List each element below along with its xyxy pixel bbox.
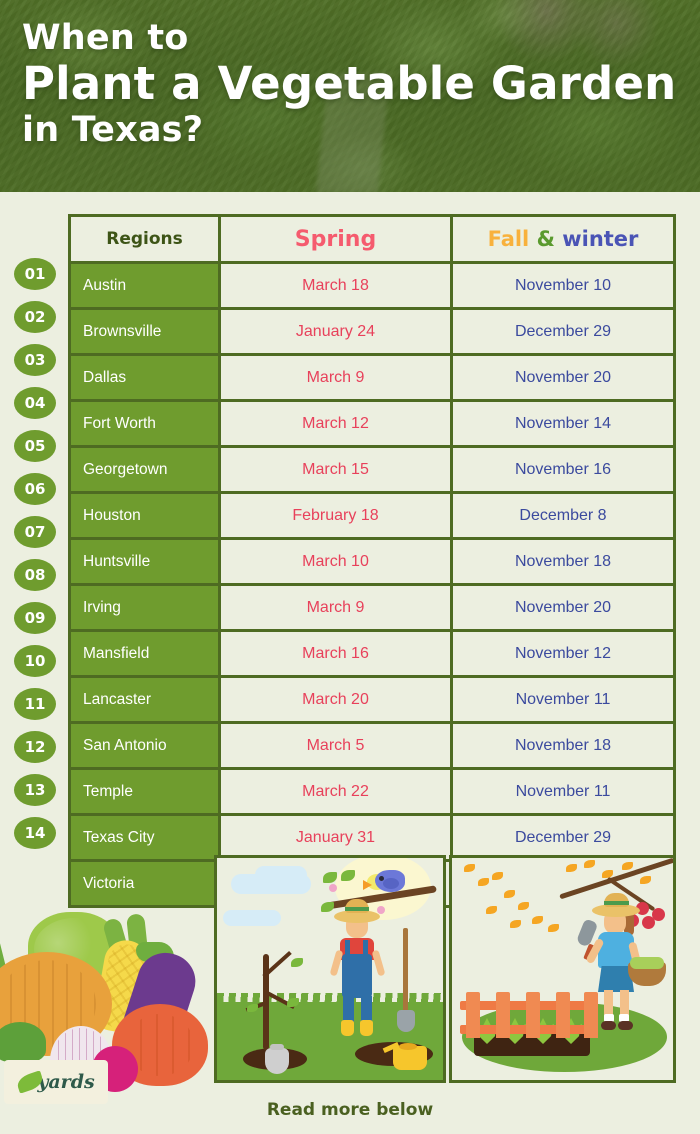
row-number-badge: 03 <box>14 344 56 376</box>
cell-region: San Antonio <box>71 724 221 767</box>
berry-icon <box>642 916 655 929</box>
overalls <box>342 954 372 998</box>
cell-fall-date: November 12 <box>453 632 673 675</box>
cloud-icon <box>223 910 281 926</box>
row-number-badge: 14 <box>14 817 56 849</box>
row-number-badge: 05 <box>14 430 56 462</box>
autumn-leaf-icon <box>566 864 577 872</box>
row-number-badge: 12 <box>14 731 56 763</box>
bird-eye <box>379 876 384 881</box>
cell-region: Texas City <box>71 816 221 859</box>
falling-leaf-icon <box>548 924 559 932</box>
cell-spring-date: March 10 <box>221 540 453 583</box>
fence-post <box>556 992 570 1038</box>
cell-spring-date: March 12 <box>221 402 453 445</box>
autumn-leaf-icon <box>622 862 633 870</box>
cell-region: Austin <box>71 264 221 307</box>
fence-post <box>584 992 598 1038</box>
cell-spring-date: March 9 <box>221 356 453 399</box>
cell-region: Huntsville <box>71 540 221 583</box>
falling-leaf-icon <box>464 864 475 872</box>
cell-spring-date: March 15 <box>221 448 453 491</box>
leg <box>604 990 613 1016</box>
cell-region: Victoria <box>71 862 221 905</box>
row-number-badge: 10 <box>14 645 56 677</box>
table-row: BrownsvilleJanuary 24December 29 <box>71 310 673 356</box>
cell-fall-date: November 20 <box>453 356 673 399</box>
spring-illustration-panel <box>214 855 446 1083</box>
cell-fall-date: November 18 <box>453 540 673 583</box>
overall-strap <box>345 940 350 956</box>
winter-word: winter <box>562 227 638 251</box>
table-row: HuntsvilleMarch 10November 18 <box>71 540 673 586</box>
overall-strap <box>363 940 368 956</box>
header-cell-fall-winter: Fall & winter <box>453 217 673 261</box>
table-row: DallasMarch 9November 20 <box>71 356 673 402</box>
cell-spring-date: March 18 <box>221 264 453 307</box>
title-line-1: When to <box>22 18 686 58</box>
hat-band <box>604 901 629 905</box>
cell-fall-date: December 8 <box>453 494 673 537</box>
row-number-badge: 09 <box>14 602 56 634</box>
cell-fall-date: November 14 <box>453 402 673 445</box>
watering-can-rose <box>399 1043 417 1050</box>
cell-fall-date: November 11 <box>453 770 673 813</box>
cell-fall-date: November 16 <box>453 448 673 491</box>
pot-neck <box>270 1044 284 1050</box>
fence-post <box>466 992 480 1038</box>
table-row: MansfieldMarch 16November 12 <box>71 632 673 678</box>
falling-leaf-icon <box>486 906 497 914</box>
row-number-badge: 06 <box>14 473 56 505</box>
title-line-2: Plant a Vegetable Garden <box>22 58 686 109</box>
blossom-icon <box>377 906 385 914</box>
cell-spring-date: March 22 <box>221 770 453 813</box>
cell-spring-date: January 31 <box>221 816 453 859</box>
row-number-badge: 02 <box>14 301 56 333</box>
brand-logo[interactable]: yards <box>4 1060 108 1104</box>
cell-fall-date: December 29 <box>453 816 673 859</box>
cell-spring-date: March 16 <box>221 632 453 675</box>
cell-fall-date: December 29 <box>453 310 673 353</box>
falling-leaf-icon <box>532 916 543 924</box>
title-line-3: in Texas? <box>22 109 686 151</box>
cell-region: Georgetown <box>71 448 221 491</box>
bird-wing <box>383 878 399 889</box>
falling-leaf-icon <box>518 902 529 910</box>
falling-leaf-icon <box>492 872 503 880</box>
header-banner: When to Plant a Vegetable Garden in Texa… <box>0 0 700 192</box>
shoe-icon <box>618 1021 633 1030</box>
read-more-label: Read more below <box>0 1100 700 1120</box>
shoe-icon <box>601 1021 616 1030</box>
regions-label: Regions <box>71 229 218 249</box>
cell-fall-date: November 20 <box>453 586 673 629</box>
shovel-blade <box>397 1010 415 1032</box>
table-row: Fort WorthMarch 12November 14 <box>71 402 673 448</box>
fence-post <box>526 992 540 1038</box>
hat-band <box>345 907 369 911</box>
table-row: TempleMarch 22November 11 <box>71 770 673 816</box>
clay-pot-icon <box>265 1048 289 1074</box>
cell-fall-date: November 10 <box>453 264 673 307</box>
falling-leaf-icon <box>510 920 521 928</box>
table-row: GeorgetownMarch 15November 16 <box>71 448 673 494</box>
row-number-badge: 11 <box>14 688 56 720</box>
cell-region: Lancaster <box>71 678 221 721</box>
row-number-badge: 13 <box>14 774 56 806</box>
cell-spring-date: March 20 <box>221 678 453 721</box>
planting-dates-table: Regions Spring Fall & winter AustinMarch… <box>68 214 676 908</box>
broccoli-icon <box>0 1022 46 1062</box>
cell-spring-date: February 18 <box>221 494 453 537</box>
cell-region: Houston <box>71 494 221 537</box>
table-row: IrvingMarch 9November 20 <box>71 586 673 632</box>
leg <box>343 996 354 1022</box>
leg <box>620 990 629 1016</box>
row-number-badge: 07 <box>14 516 56 548</box>
logo-text: yards <box>37 1071 94 1093</box>
fence-post <box>496 992 510 1038</box>
basket-greens <box>630 957 664 969</box>
cell-region: Brownsville <box>71 310 221 353</box>
blossom-icon <box>329 884 337 892</box>
leg <box>361 996 372 1022</box>
spring-label: Spring <box>295 227 376 252</box>
fall-word: Fall <box>488 227 530 251</box>
fall-winter-label: Fall & winter <box>488 227 639 251</box>
row-number-badge: 04 <box>14 387 56 419</box>
row-number-badge: 08 <box>14 559 56 591</box>
cell-fall-date: November 11 <box>453 678 673 721</box>
table-row: AustinMarch 18November 10 <box>71 264 673 310</box>
header-cell-spring: Spring <box>221 217 453 261</box>
falling-leaf-icon <box>504 890 515 898</box>
cloud-icon <box>255 866 307 884</box>
bird-beak <box>363 880 372 890</box>
boot-icon <box>360 1020 373 1036</box>
table-row: LancasterMarch 20November 11 <box>71 678 673 724</box>
cell-region: Temple <box>71 770 221 813</box>
page-title: When to Plant a Vegetable Garden in Texa… <box>22 18 686 151</box>
table-header-row: Regions Spring Fall & winter <box>71 217 673 264</box>
table-row: San AntonioMarch 5November 18 <box>71 724 673 770</box>
ampersand: & <box>537 227 555 251</box>
cell-spring-date: January 24 <box>221 310 453 353</box>
cell-spring-date: March 9 <box>221 586 453 629</box>
boot-icon <box>341 1020 354 1036</box>
cell-region: Mansfield <box>71 632 221 675</box>
autumn-leaf-icon <box>584 860 595 868</box>
header-cell-regions: Regions <box>71 217 221 261</box>
shovel-handle <box>403 928 408 1014</box>
cell-region: Fort Worth <box>71 402 221 445</box>
cell-region: Dallas <box>71 356 221 399</box>
row-number-badge: 01 <box>14 258 56 290</box>
falling-leaf-icon <box>478 878 489 886</box>
cell-fall-date: November 18 <box>453 724 673 767</box>
autumn-leaf-icon <box>640 876 651 884</box>
table-row: HoustonFebruary 18December 8 <box>71 494 673 540</box>
fall-illustration-panel <box>449 855 676 1083</box>
cell-spring-date: March 5 <box>221 724 453 767</box>
row-number-badges: 0102030405060708091011121314 <box>14 258 58 860</box>
cell-region: Irving <box>71 586 221 629</box>
